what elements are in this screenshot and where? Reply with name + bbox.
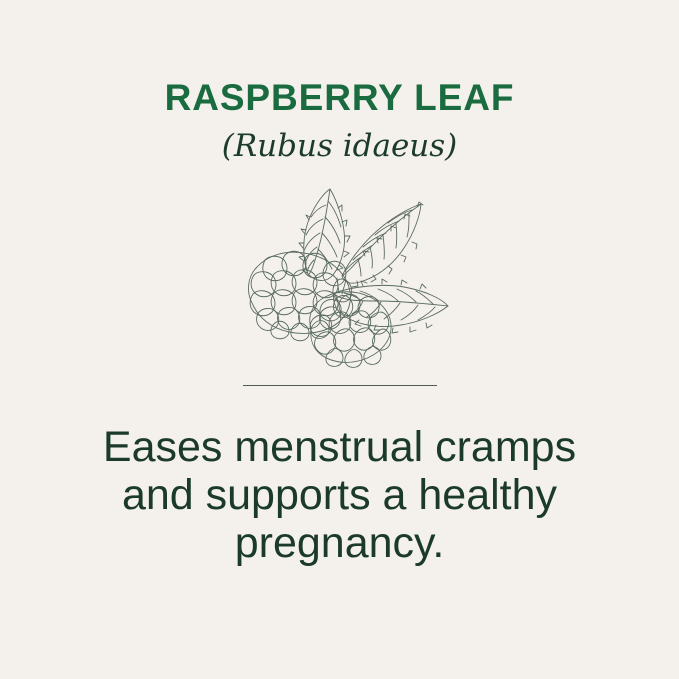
- section-divider: [243, 385, 437, 386]
- leaf-upper-right-icon: [342, 202, 423, 287]
- page-title: RASPBERRY LEAF: [165, 0, 515, 116]
- raspberry-leaf-illustration: [190, 177, 490, 373]
- latin-name-subtitle: (Rubus idaeus): [222, 116, 458, 163]
- botanical-info-card: RASPBERRY LEAF (Rubus idaeus): [0, 0, 679, 679]
- benefit-description: Eases menstrual cramps and supports a he…: [70, 394, 610, 567]
